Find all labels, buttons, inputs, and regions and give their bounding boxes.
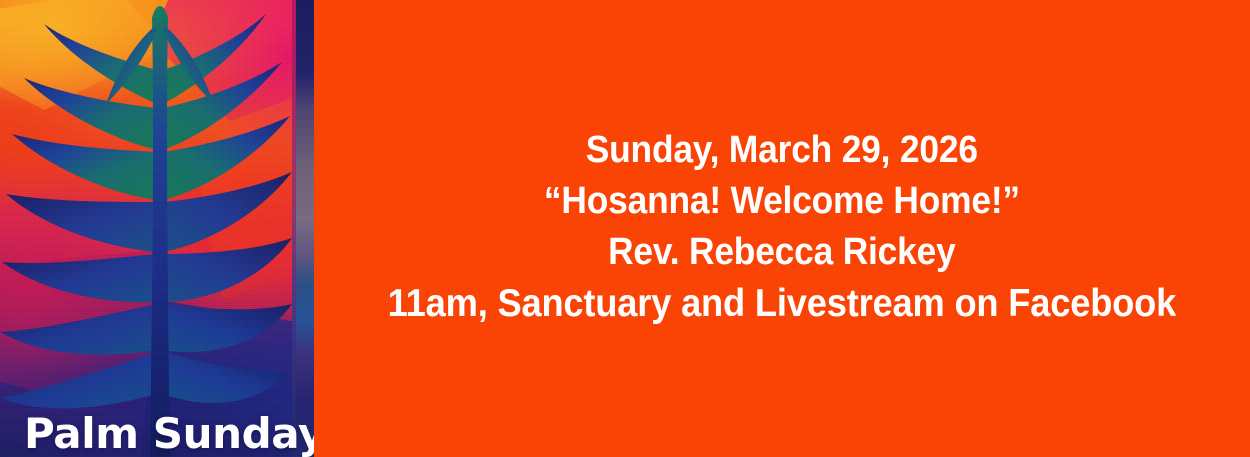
artwork-right-edge-strip	[292, 0, 314, 457]
palm-frond-icon	[0, 0, 314, 457]
service-time-and-location: 11am, Sanctuary and Livestream on Facebo…	[388, 278, 1176, 329]
palm-sunday-artwork: Palm Sunday	[0, 0, 314, 457]
sermon-title: “Hosanna! Welcome Home!”	[544, 176, 1020, 227]
service-date: Sunday, March 29, 2026	[586, 125, 978, 176]
palm-sunday-banner: Palm Sunday Sunday, March 29, 2026 “Hosa…	[0, 0, 1250, 457]
artwork-caption: Palm Sunday	[24, 413, 314, 455]
preacher-name: Rev. Rebecca Rickey	[608, 227, 955, 278]
service-details: Sunday, March 29, 2026 “Hosanna! Welcome…	[358, 125, 1206, 333]
service-info-panel: Sunday, March 29, 2026 “Hosanna! Welcome…	[314, 0, 1250, 457]
